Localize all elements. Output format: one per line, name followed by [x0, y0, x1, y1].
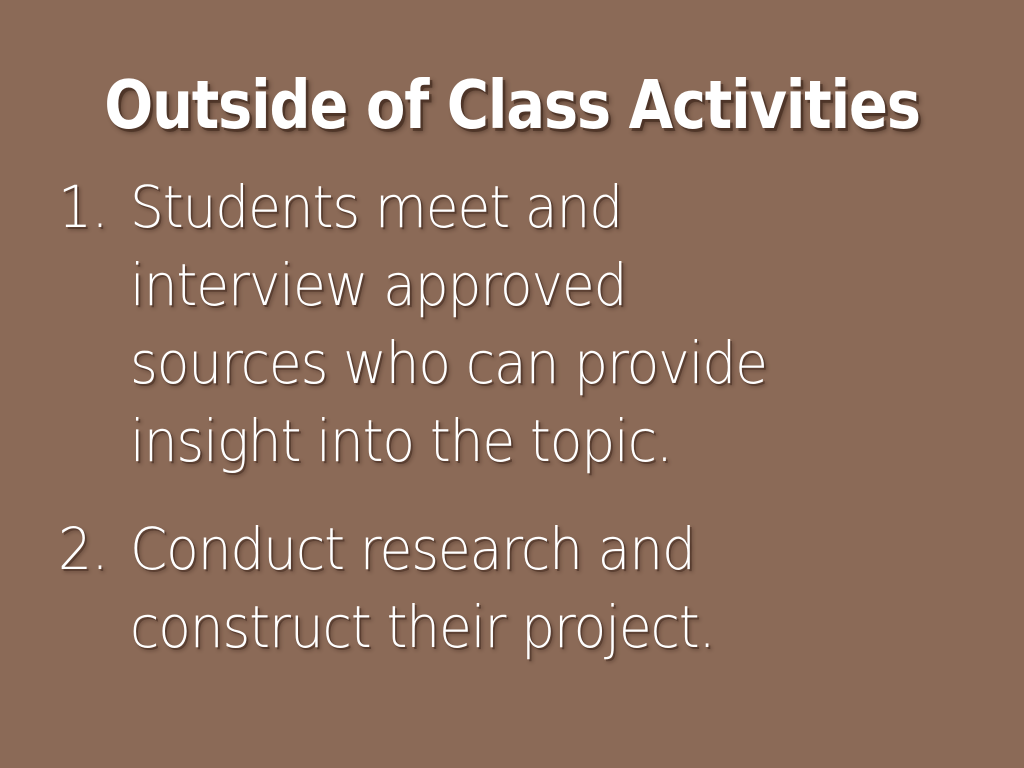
- list-item-text-line: interview approved: [130, 246, 892, 324]
- slide-title: Outside of Class Activities: [72, 71, 953, 139]
- list-item-text-line: construct their project.: [130, 588, 892, 666]
- list-item-text-line: Conduct research and: [130, 510, 892, 588]
- list-item-text: Conduct research and construct their pro…: [130, 510, 892, 666]
- list-item-number: 2.: [58, 510, 124, 588]
- list-item: 1. Students meet and interview approved …: [58, 168, 958, 480]
- list-item-text-line: Students meet and: [130, 168, 892, 246]
- list-item-text: Students meet and interview approved sou…: [130, 168, 892, 480]
- presentation-slide: Outside of Class Activities 1. Students …: [0, 0, 1024, 768]
- list-item: 2. Conduct research and construct their …: [58, 510, 958, 666]
- list-item-number: 1.: [58, 168, 124, 246]
- list-item-text-line: insight into the topic.: [130, 402, 892, 480]
- numbered-activity-list: 1. Students meet and interview approved …: [58, 168, 958, 666]
- list-item-text-line: sources who can provide: [130, 324, 892, 402]
